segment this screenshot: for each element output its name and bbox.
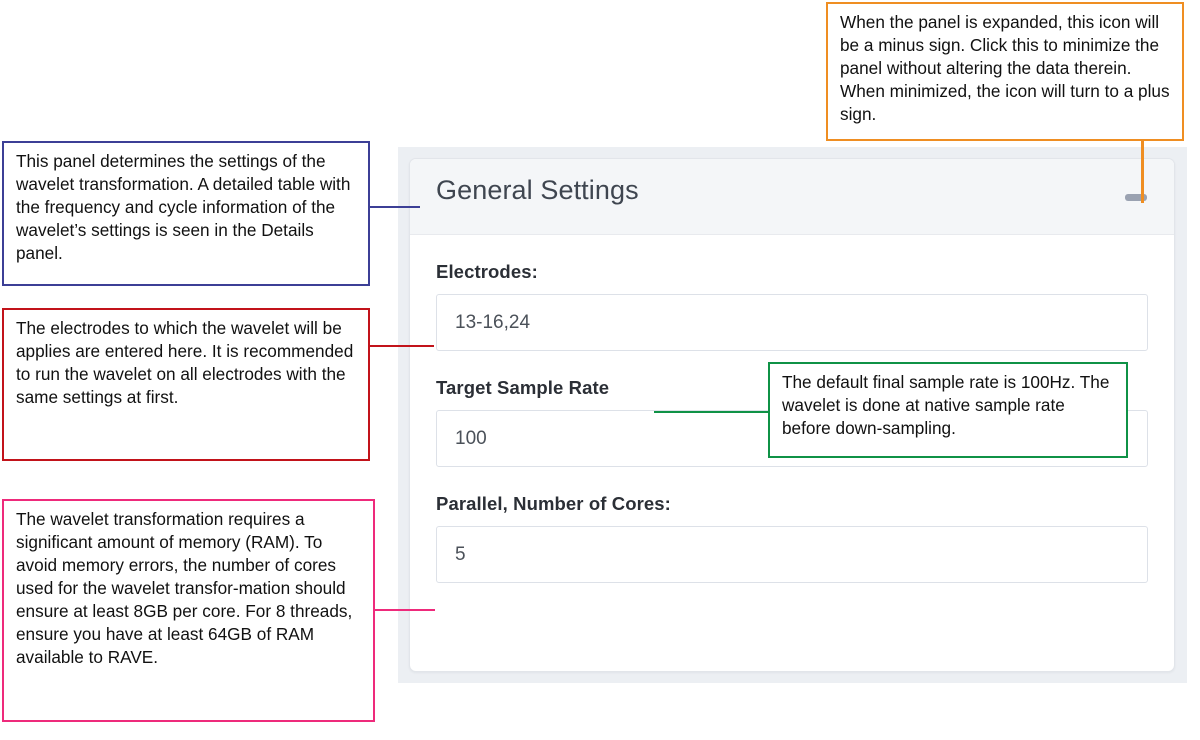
annotation-sample-rate: The default final sample rate is 100Hz. … [768,362,1128,458]
annotation-panel: This panel determines the settings of th… [2,141,370,286]
leader-line-panel [368,206,420,208]
annotation-sample-rate-text: The default final sample rate is 100Hz. … [782,371,1114,440]
minimize-panel-button[interactable] [1120,187,1152,207]
panel-header: General Settings [410,159,1174,235]
annotation-electrodes-text: The electrodes to which the wavelet will… [16,317,356,409]
leader-line-collapse [1141,141,1144,203]
annotation-collapse-text: When the panel is expanded, this icon wi… [840,11,1170,126]
annotation-collapse: When the panel is expanded, this icon wi… [826,2,1184,141]
field-group-electrodes: Electrodes: [436,261,1148,351]
leader-line-electrodes [368,345,434,347]
parallel-cores-input[interactable] [436,526,1148,583]
parallel-cores-label: Parallel, Number of Cores: [436,493,1148,515]
page-title: General Settings [436,175,639,206]
annotation-electrodes: The electrodes to which the wavelet will… [2,308,370,461]
annotation-cores: The wavelet transformation requires a si… [2,499,375,722]
electrodes-input[interactable] [436,294,1148,351]
annotation-cores-text: The wavelet transformation requires a si… [16,508,361,669]
leader-line-cores [373,609,435,611]
electrodes-label: Electrodes: [436,261,1148,283]
annotation-panel-text: This panel determines the settings of th… [16,150,356,265]
field-group-parallel-cores: Parallel, Number of Cores: [436,493,1148,583]
leader-line-sample-rate [654,411,770,413]
